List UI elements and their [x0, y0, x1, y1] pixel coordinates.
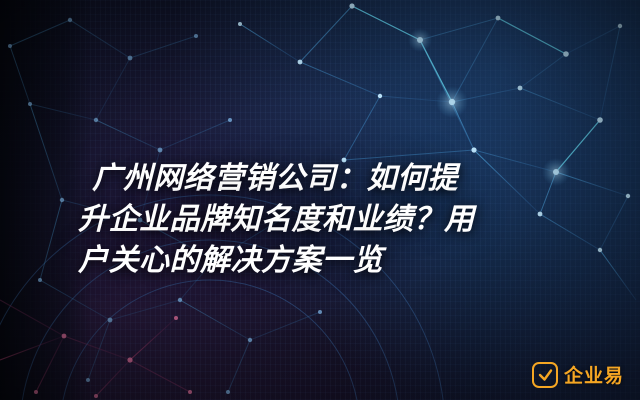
headline-line-2: 升企业品牌知名度和业绩？用	[78, 199, 578, 240]
logo-icon	[532, 362, 558, 388]
cover-image: 广州网络营销公司：如何提 升企业品牌知名度和业绩？用 户关心的解决方案一览 企业…	[0, 0, 640, 400]
headline-line-3: 户关心的解决方案一览	[78, 240, 578, 281]
headline: 广州网络营销公司：如何提 升企业品牌知名度和业绩？用 户关心的解决方案一览	[78, 158, 578, 281]
headline-line-1: 广州网络营销公司：如何提	[78, 158, 578, 199]
watermark: 企业易	[532, 361, 624, 388]
watermark-text: 企业易	[564, 361, 624, 388]
